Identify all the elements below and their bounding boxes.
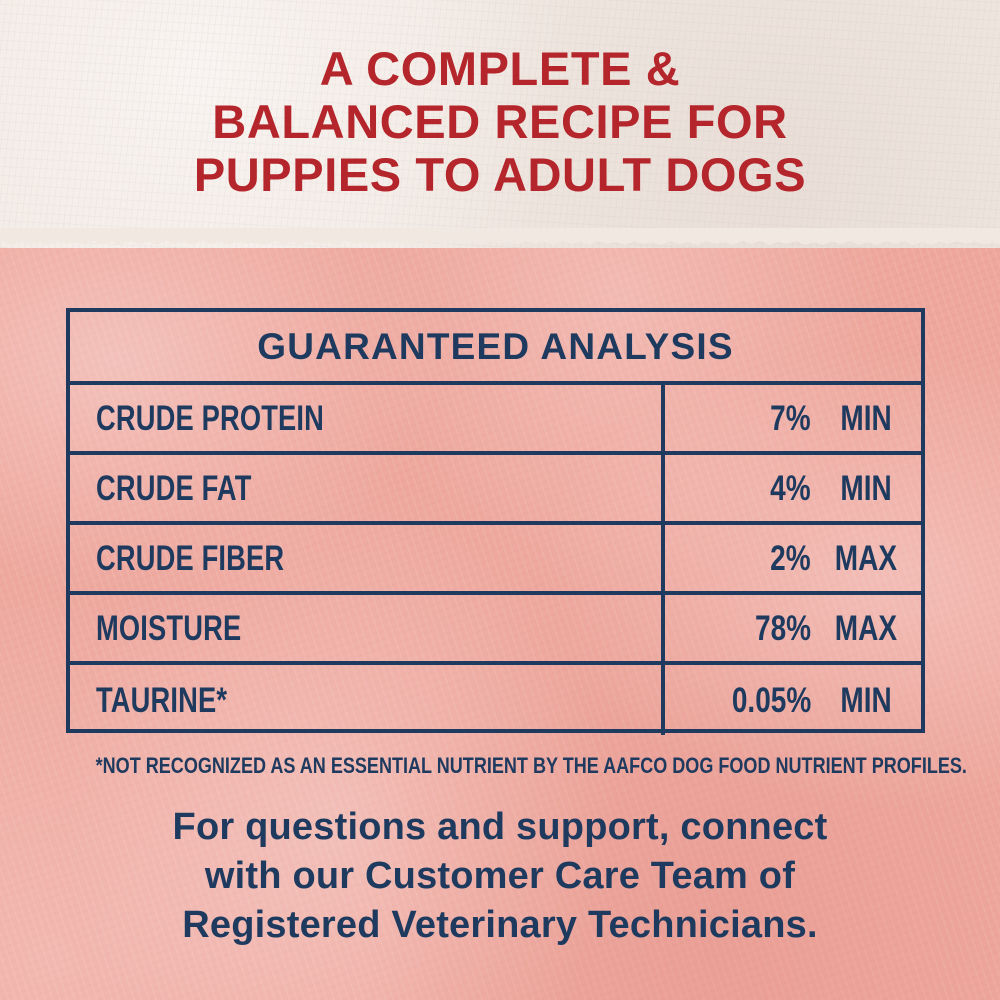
- nutrient-value-cell: 0.05% MIN: [665, 665, 921, 735]
- nutrient-name: TAURINE*: [96, 683, 227, 718]
- table-row: TAURINE* 0.05% MIN: [70, 665, 921, 735]
- customer-support-message: For questions and support, connect with …: [0, 803, 1000, 950]
- nutrient-name-cell: CRUDE FIBER: [70, 525, 665, 591]
- nutrient-value-cell: 78% MAX: [665, 595, 921, 661]
- taurine-footnote: *NOT RECOGNIZED AS AN ESSENTIAL NUTRIENT…: [0, 755, 1000, 777]
- nutrient-qualifier: MIN: [811, 683, 921, 718]
- nutrient-qualifier: MIN: [811, 401, 921, 436]
- nutrient-qualifier: MIN: [811, 471, 921, 506]
- nutrient-name-cell: CRUDE PROTEIN: [70, 385, 665, 451]
- table-row: CRUDE PROTEIN 7% MIN: [70, 385, 921, 455]
- guaranteed-analysis-title-row: GUARANTEED ANALYSIS: [70, 312, 921, 385]
- nutrient-qualifier: MAX: [811, 541, 921, 576]
- support-line-3: Registered Veterinary Technicians.: [0, 901, 1000, 950]
- product-label-panel: A COMPLETE & BALANCED RECIPE FOR PUPPIES…: [0, 0, 1000, 1000]
- nutrient-name: CRUDE FAT: [96, 471, 252, 506]
- nutrient-name: CRUDE PROTEIN: [96, 401, 324, 436]
- nutrient-amount: 78%: [673, 611, 811, 646]
- nutrient-name-cell: CRUDE FAT: [70, 455, 665, 521]
- headline-line-1: A COMPLETE &: [0, 42, 1000, 95]
- guaranteed-analysis-title: GUARANTEED ANALYSIS: [257, 328, 733, 365]
- nutrient-value-cell: 2% MAX: [665, 525, 921, 591]
- nutrient-amount: 7%: [673, 401, 811, 436]
- table-row: CRUDE FAT 4% MIN: [70, 455, 921, 525]
- nutrient-amount: 0.05%: [673, 683, 811, 718]
- nutrient-name: MOISTURE: [96, 611, 241, 646]
- nutrient-value-cell: 4% MIN: [665, 455, 921, 521]
- headline-line-3: PUPPIES TO ADULT DOGS: [0, 148, 1000, 201]
- nutrient-name-cell: TAURINE*: [70, 665, 665, 735]
- table-row: MOISTURE 78% MAX: [70, 595, 921, 665]
- nutrient-name: CRUDE FIBER: [96, 541, 284, 576]
- nutrient-name-cell: MOISTURE: [70, 595, 665, 661]
- table-row: CRUDE FIBER 2% MAX: [70, 525, 921, 595]
- nutrient-value-cell: 7% MIN: [665, 385, 921, 451]
- support-line-2: with our Customer Care Team of: [0, 852, 1000, 901]
- guaranteed-analysis-rows: CRUDE PROTEIN 7% MIN CRUDE FAT 4% MIN: [70, 385, 921, 735]
- support-line-1: For questions and support, connect: [0, 803, 1000, 852]
- nutrient-qualifier: MAX: [811, 611, 921, 646]
- guaranteed-analysis-table: GUARANTEED ANALYSIS CRUDE PROTEIN 7% MIN…: [66, 308, 925, 733]
- nutrient-amount: 2%: [673, 541, 811, 576]
- headline-line-2: BALANCED RECIPE FOR: [0, 95, 1000, 148]
- nutrient-amount: 4%: [673, 471, 811, 506]
- headline: A COMPLETE & BALANCED RECIPE FOR PUPPIES…: [0, 42, 1000, 201]
